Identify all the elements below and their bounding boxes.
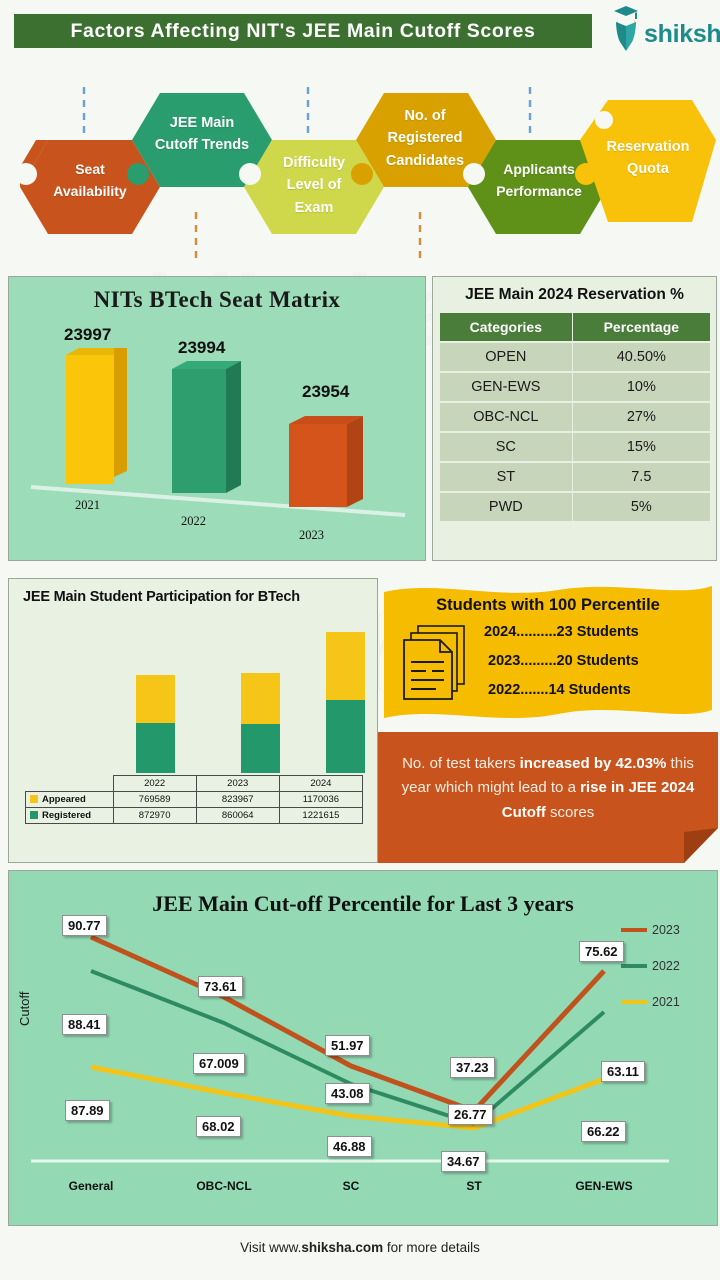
table-row: OPEN40.50% [440,343,710,371]
graduation-cap-icon [604,4,648,52]
reservation-table: Categories Percentage OPEN40.50% GEN-EWS… [439,311,711,523]
footer: Visit www.shiksha.com for more details [0,1240,720,1255]
cell-category: SC [440,433,572,461]
datalabel-2022-genews: 63.11 [601,1061,645,1082]
callout-seg-bold: by 42.03% [594,755,667,772]
percentile-banner-title: Students with 100 Percentile [378,596,718,615]
cell-registered-2022: 872970 [113,808,196,824]
table-header-row: Categories Percentage [440,313,710,341]
legend-label-2022: 2022 [652,959,680,973]
datalabel-2022-st: 37.23 [450,1057,495,1078]
xtick-st: ST [424,1179,524,1193]
seat-matrix-value-2022: 23994 [178,338,225,358]
table-row: ST7.5 [440,463,710,491]
datalabel-2023-obcncl: 73.61 [198,976,243,997]
legend-swatch-2021-icon [621,1000,647,1004]
hex-seat-availability [15,140,160,234]
cell-percentage: 10% [573,373,710,401]
seat-matrix-panel: NITs BTech Seat Matrix [8,276,426,561]
swatch-registered-icon [30,811,38,819]
legend-swatch-2023-icon [621,928,647,932]
table-row: OBC-NCL27% [440,403,710,431]
legend-appeared: Appeared [26,792,114,808]
bar-group-2024 [326,632,365,773]
legend-item-2021: 2021 [621,995,680,1009]
bar-2022 [172,361,241,493]
table-row: GEN-EWS10% [440,373,710,401]
table-row: Registered 872970 860064 1221615 [26,808,363,824]
footer-prefix: Visit www. [240,1240,301,1255]
footer-suffix: for more details [383,1240,480,1255]
cell-registered-2024: 1221615 [279,808,362,824]
cell-appeared-2024: 1170036 [279,792,362,808]
cell-category: ST [440,463,572,491]
legend-item-2023: 2023 [621,923,680,937]
reservation-panel: JEE Main 2024 Reservation % Categories P… [432,276,717,561]
col-2024: 2024 [279,776,362,792]
col-percentage: Percentage [573,313,710,341]
xtick-genews: GEN-EWS [554,1179,654,1193]
xtick-general: General [41,1179,141,1193]
bar-2021 [66,348,127,484]
cell-percentage: 7.5 [573,463,710,491]
seat-matrix-xtick-2021: 2021 [75,498,100,513]
col-categories: Categories [440,313,572,341]
table-corner-cell [26,776,114,792]
header: Factors Affecting NIT's JEE Main Cutoff … [0,0,720,62]
col-2022: 2022 [113,776,196,792]
xtick-sc: SC [301,1179,401,1193]
cell-category: OBC-NCL [440,403,572,431]
bar-group-2022 [136,675,175,773]
percentile-line-2023: 2023.........20 Students [488,653,639,669]
cell-percentage: 27% [573,403,710,431]
datalabel-2021-st: 34.67 [441,1151,486,1172]
cell-appeared-2023: 823967 [196,792,279,808]
table-row: SC15% [440,433,710,461]
cell-appeared-2022: 769589 [113,792,196,808]
factors-hex-row: SeatAvailability JEE MainCutoff Trends D… [0,62,720,274]
table-row: PWD5% [440,493,710,521]
page-title: Factors Affecting NIT's JEE Main Cutoff … [71,20,536,43]
seat-matrix-value-2023: 23954 [302,382,349,402]
datalabel-2023-st: 26.77 [448,1104,493,1125]
footer-brand[interactable]: shiksha.com [301,1240,383,1255]
table-row: Appeared 769589 823967 1170036 [26,792,363,808]
header-banner: Factors Affecting NIT's JEE Main Cutoff … [14,14,592,48]
datalabel-2021-sc: 46.88 [327,1136,372,1157]
cell-percentage: 5% [573,493,710,521]
seat-matrix-xtick-2023: 2023 [299,528,324,543]
datalabel-2023-general: 90.77 [62,915,107,936]
seat-matrix-value-2021: 23997 [64,325,111,345]
datalabel-2021-obcncl: 68.02 [196,1116,241,1137]
bar-2023 [289,416,363,507]
legend-registered: Registered [26,808,114,824]
reservation-title: JEE Main 2024 Reservation % [433,286,716,304]
col-2023: 2023 [196,776,279,792]
datalabel-2022-obcncl: 67.009 [193,1053,245,1074]
seat-matrix-xtick-2022: 2022 [181,514,206,529]
cell-category: GEN-EWS [440,373,572,401]
legend-label-2023: 2023 [652,923,680,937]
cell-category: PWD [440,493,572,521]
percentile-line-2022: 2022.......14 Students [488,682,631,698]
cutoff-line-chart-panel: JEE Main Cut-off Percentile for Last 3 y… [8,870,718,1226]
cutoff-callout: No. of test takers increased by 42.03% t… [378,732,718,863]
infographic-page: shiksha shiksha Factors Affecting NIT's … [0,0,720,1280]
legend-label-2021: 2021 [652,995,680,1009]
shiksha-logo: shiksha [604,2,716,54]
percentile-banner: Students with 100 Percentile 2024.......… [378,578,718,726]
swatch-appeared-icon [30,795,38,803]
cell-registered-2023: 860064 [196,808,279,824]
cell-category: OPEN [440,343,572,371]
callout-seg: scores [546,804,594,821]
callout-seg: No. of test takers [402,755,520,772]
legend-item-2022: 2022 [621,959,680,973]
datalabel-2023-sc: 51.97 [325,1035,370,1056]
cell-percentage: 15% [573,433,710,461]
datalabel-2023-genews: 75.62 [579,941,624,962]
logo-wordmark: shiksha [644,20,720,49]
callout-seg-bold: increased [520,755,590,772]
cell-percentage: 40.50% [573,343,710,371]
participation-table: 2022 2023 2024 Appeared 769589 823967 11… [25,775,363,824]
legend-swatch-2022-icon [621,964,647,968]
percentile-line-2024: 2024..........23 Students [484,624,639,640]
datalabel-2021-genews: 66.22 [581,1121,626,1142]
xtick-obcncl: OBC-NCL [174,1179,274,1193]
callout-text: No. of test takers increased by 42.03% t… [396,752,700,825]
table-header-row: 2022 2023 2024 [26,776,363,792]
documents-icon [400,622,476,704]
datalabel-2022-sc: 43.08 [325,1083,370,1104]
datalabel-2021-general: 87.89 [65,1100,110,1121]
bar-group-2023 [241,673,280,773]
participation-panel: JEE Main Student Participation for BTech [8,578,378,863]
datalabel-2022-general: 88.41 [62,1014,107,1035]
